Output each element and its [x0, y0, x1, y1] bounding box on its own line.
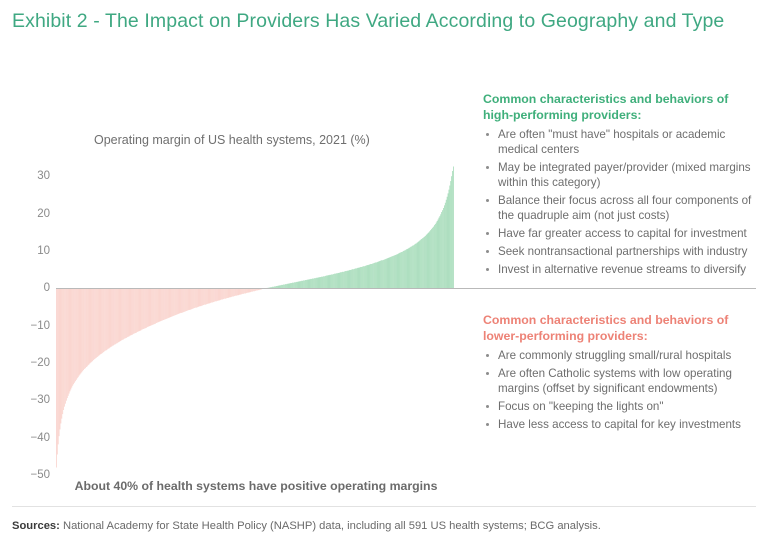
bullet-dot-icon	[486, 405, 489, 408]
bar	[414, 245, 415, 289]
bar	[179, 288, 180, 313]
bar	[220, 288, 221, 300]
bar	[411, 246, 412, 288]
bar	[96, 288, 97, 357]
bar	[425, 236, 426, 288]
bar	[117, 288, 118, 343]
bullet-dot-icon	[486, 232, 489, 235]
bar	[300, 281, 301, 288]
bar	[362, 267, 363, 289]
bar	[339, 273, 340, 288]
bar	[386, 259, 387, 289]
bar	[175, 288, 176, 315]
bar	[367, 265, 368, 288]
bar	[299, 282, 300, 289]
bar	[406, 249, 407, 288]
bar	[369, 265, 370, 289]
bar	[143, 288, 144, 329]
bullet-dot-icon	[486, 250, 489, 253]
footer-divider	[12, 506, 756, 507]
bar	[415, 244, 416, 288]
bar	[172, 288, 173, 316]
bar-series	[56, 165, 454, 475]
bar	[174, 288, 175, 315]
bullet-dot-icon	[486, 423, 489, 426]
bar	[429, 232, 430, 288]
bar	[357, 268, 358, 288]
bar	[214, 288, 215, 301]
bar	[215, 288, 216, 301]
bar	[359, 268, 360, 289]
bar	[151, 288, 152, 325]
bar	[427, 234, 428, 288]
bar	[233, 288, 234, 296]
bar	[148, 288, 149, 326]
bar	[188, 288, 189, 310]
bar	[443, 208, 444, 288]
bar	[379, 261, 380, 288]
bar	[342, 272, 343, 288]
bar	[399, 253, 400, 288]
bar	[209, 288, 210, 303]
bar	[331, 274, 332, 288]
bar	[194, 288, 195, 308]
list-item-label: Have less access to capital for key inve…	[498, 418, 741, 431]
bar	[440, 214, 441, 288]
bar	[232, 288, 233, 296]
bar	[118, 288, 119, 342]
bar	[366, 265, 367, 288]
y-axis-tick-label: −30	[4, 394, 50, 406]
bar	[160, 288, 161, 321]
bar	[340, 272, 341, 288]
bar	[135, 288, 136, 333]
bar	[238, 288, 239, 295]
bar	[328, 275, 329, 288]
zero-baseline	[56, 288, 756, 289]
bar	[165, 288, 166, 319]
bullet-dot-icon	[486, 268, 489, 271]
bar	[310, 279, 311, 288]
bar	[326, 276, 327, 289]
bar	[230, 288, 231, 297]
bar	[359, 267, 360, 288]
bar	[142, 288, 143, 329]
bar	[316, 278, 317, 288]
bar	[184, 288, 185, 312]
bar	[304, 280, 305, 288]
bar	[352, 269, 353, 288]
bar	[169, 288, 170, 318]
bar	[70, 288, 71, 391]
bar	[379, 261, 380, 288]
bar	[447, 197, 448, 289]
bar	[336, 273, 337, 288]
high-performers-heading: Common characteristics and behaviors of …	[483, 92, 761, 123]
bar	[67, 288, 68, 398]
bar	[81, 288, 82, 373]
bullet-dot-icon	[486, 354, 489, 357]
bar	[99, 288, 100, 355]
bar	[95, 288, 96, 358]
bar	[371, 264, 372, 288]
bar	[322, 277, 323, 289]
bar	[178, 288, 179, 314]
sources-label: Sources:	[12, 520, 60, 532]
bar	[350, 270, 351, 288]
bar	[320, 277, 321, 288]
bar	[313, 279, 314, 289]
bar	[71, 288, 72, 389]
bar	[61, 288, 62, 423]
bar	[180, 288, 181, 313]
bar	[378, 262, 379, 289]
bar	[160, 288, 161, 321]
bar	[61, 288, 62, 418]
bar	[147, 288, 148, 327]
bar	[413, 245, 414, 288]
bar	[151, 288, 152, 325]
bar	[73, 288, 74, 384]
bar	[398, 254, 399, 288]
bar	[185, 288, 186, 311]
bar	[348, 271, 349, 289]
bar	[361, 267, 362, 288]
bar	[320, 277, 321, 288]
bar	[208, 288, 209, 303]
bar	[65, 288, 66, 403]
bar	[419, 240, 420, 288]
list-item: Balance their focus across all four comp…	[483, 193, 761, 224]
bar	[323, 276, 324, 288]
list-item-label: Are often "must have" hospitals or acade…	[498, 128, 725, 156]
bar	[201, 288, 202, 306]
bar	[431, 229, 432, 288]
bar	[423, 237, 424, 288]
bar	[236, 288, 237, 295]
bar	[85, 288, 86, 368]
bar	[404, 251, 405, 289]
bar	[206, 288, 207, 304]
bar	[196, 288, 197, 307]
bar	[197, 288, 198, 307]
bar	[311, 279, 312, 288]
bar	[298, 282, 299, 289]
bar	[225, 288, 226, 298]
bar	[325, 276, 326, 288]
bar	[202, 288, 203, 305]
bar	[302, 281, 303, 288]
bar	[181, 288, 182, 313]
bar	[224, 288, 225, 298]
bar	[167, 288, 168, 318]
bar	[187, 288, 188, 310]
bar	[333, 274, 334, 288]
bar	[186, 288, 187, 311]
bar	[207, 288, 208, 304]
bar	[108, 288, 109, 349]
bar	[307, 280, 308, 289]
bar	[200, 288, 201, 306]
bar	[58, 288, 59, 444]
bar	[114, 288, 115, 344]
bar	[213, 288, 214, 302]
list-item: Invest in alternative revenue streams to…	[483, 262, 761, 277]
bar	[131, 288, 132, 335]
bar	[125, 288, 126, 338]
bar	[59, 288, 60, 436]
bar	[211, 288, 212, 302]
bar	[401, 252, 402, 288]
bar	[177, 288, 178, 314]
bar	[317, 278, 318, 288]
bar	[365, 266, 366, 288]
bar	[78, 288, 79, 377]
bar	[170, 288, 171, 317]
bar	[444, 205, 445, 288]
chart-caption: About 40% of health systems have positiv…	[56, 479, 456, 493]
bar	[341, 272, 342, 288]
bar	[346, 271, 347, 288]
bar	[140, 288, 141, 331]
bar	[385, 259, 386, 288]
bar	[87, 288, 88, 366]
bar	[123, 288, 124, 339]
bar	[69, 288, 70, 393]
bar	[374, 263, 375, 288]
plot-area	[56, 165, 454, 475]
bar	[387, 258, 388, 288]
bar	[64, 288, 65, 406]
bar	[112, 288, 113, 346]
bar	[134, 288, 135, 333]
bar	[144, 288, 145, 328]
bar	[350, 270, 351, 288]
bar	[146, 288, 147, 328]
bar	[76, 288, 77, 380]
y-axis-tick-label: 20	[4, 208, 50, 220]
bar	[400, 252, 401, 288]
bar	[57, 288, 58, 454]
bar	[237, 288, 238, 295]
sources-note: Sources: National Academy for State Heal…	[12, 519, 756, 534]
bar	[377, 262, 378, 288]
bar	[424, 237, 425, 289]
bar	[383, 260, 384, 288]
bar	[217, 288, 218, 301]
bar	[183, 288, 184, 312]
bar	[429, 231, 430, 288]
bar	[97, 288, 98, 357]
bar	[347, 271, 348, 289]
list-item: Have less access to capital for key inve…	[483, 417, 761, 432]
bar	[166, 288, 167, 319]
bar	[426, 235, 427, 288]
bar	[150, 288, 151, 326]
bar	[173, 288, 174, 316]
bar	[158, 288, 159, 322]
bar	[93, 288, 94, 360]
list-item: May be integrated payer/provider (mixed …	[483, 160, 761, 191]
bar	[133, 288, 134, 334]
bar	[180, 288, 181, 313]
list-item-label: Have far greater access to capital for i…	[498, 227, 747, 240]
bar	[189, 288, 190, 310]
bar	[417, 243, 418, 289]
bar	[159, 288, 160, 322]
bar	[105, 288, 106, 350]
bar	[344, 271, 345, 288]
bar	[330, 275, 331, 288]
bar	[418, 242, 419, 288]
bar	[393, 256, 394, 288]
bar	[74, 288, 75, 382]
bar	[106, 288, 107, 350]
bar	[369, 264, 370, 288]
bar	[356, 268, 357, 288]
bar	[389, 258, 390, 289]
bar	[396, 255, 397, 289]
bar	[199, 288, 200, 306]
bar	[86, 288, 87, 367]
bar	[155, 288, 156, 323]
bar	[91, 288, 92, 362]
bar	[239, 288, 240, 295]
bar	[435, 224, 436, 288]
bar	[305, 280, 306, 288]
bar	[441, 212, 442, 288]
bar	[399, 253, 400, 288]
bar	[364, 266, 365, 288]
bar	[141, 288, 142, 330]
bar	[212, 288, 213, 302]
bullet-dot-icon	[486, 199, 489, 202]
sources-text: National Academy for State Health Policy…	[63, 520, 601, 532]
bar	[98, 288, 99, 356]
bar	[439, 216, 440, 288]
bar	[130, 288, 131, 335]
bar	[312, 279, 313, 289]
bar	[210, 288, 211, 303]
bar	[191, 288, 192, 309]
list-item-label: Balance their focus across all four comp…	[498, 194, 751, 222]
bar	[388, 258, 389, 288]
bar	[228, 288, 229, 298]
bar	[234, 288, 235, 296]
bar	[176, 288, 177, 315]
bar	[193, 288, 194, 308]
bar	[390, 257, 391, 288]
bar	[216, 288, 217, 301]
bar	[128, 288, 129, 337]
bar	[68, 288, 69, 396]
y-axis: 3020100−10−20−30−40−50	[0, 0, 50, 500]
bar	[195, 288, 196, 307]
bar	[126, 288, 127, 338]
list-item-label: Are commonly struggling small/rural hosp…	[498, 349, 731, 362]
bar	[220, 288, 221, 300]
bar	[309, 279, 310, 288]
list-item: Are often Catholic systems with low oper…	[483, 366, 761, 397]
bar	[324, 276, 325, 288]
chart-subtitle: Operating margin of US health systems, 2…	[94, 133, 370, 147]
bar	[111, 288, 112, 347]
bar	[79, 288, 80, 375]
list-item-label: Are often Catholic systems with low oper…	[498, 367, 732, 395]
bar	[94, 288, 95, 359]
bar	[198, 288, 199, 307]
bar	[332, 274, 333, 288]
bar	[370, 264, 371, 288]
bar	[60, 288, 61, 429]
bar	[314, 278, 315, 288]
low-performers-panel: Common characteristics and behaviors of …	[483, 313, 761, 434]
bar	[230, 288, 231, 297]
bar	[384, 259, 385, 288]
bar	[394, 255, 395, 288]
bar	[442, 210, 443, 288]
bar	[329, 275, 330, 288]
bar	[355, 268, 356, 288]
bar	[129, 288, 130, 336]
bar	[84, 288, 85, 369]
bar	[115, 288, 116, 344]
bar	[190, 288, 191, 310]
bar	[318, 277, 319, 288]
y-axis-tick-label: −20	[4, 357, 50, 369]
bar	[63, 288, 64, 410]
bar	[335, 274, 336, 289]
bar	[72, 288, 73, 385]
bar	[110, 288, 111, 347]
bar	[182, 288, 183, 312]
bar	[407, 249, 408, 288]
bar	[327, 276, 328, 289]
bar	[139, 288, 140, 331]
bar	[351, 270, 352, 289]
y-axis-tick-label: 0	[4, 282, 50, 294]
bar	[75, 288, 76, 381]
bar	[116, 288, 117, 343]
y-axis-tick-label: 10	[4, 245, 50, 257]
bar	[395, 255, 396, 288]
bar	[310, 279, 311, 288]
bar	[192, 288, 193, 309]
bar	[103, 288, 104, 352]
bar	[231, 288, 232, 297]
bullet-dot-icon	[486, 372, 489, 375]
bar	[92, 288, 93, 361]
list-item-label: Focus on "keeping the lights on"	[498, 400, 664, 413]
bar	[131, 288, 132, 335]
bar	[358, 268, 359, 289]
bar	[162, 288, 163, 320]
bar	[436, 223, 437, 289]
bar	[315, 278, 316, 288]
bar	[235, 288, 236, 295]
bar	[120, 288, 121, 341]
bar	[154, 288, 155, 324]
bar	[82, 288, 83, 371]
bar	[449, 190, 450, 289]
bar	[300, 281, 301, 288]
bar	[450, 181, 451, 288]
bar	[451, 176, 452, 288]
bar	[221, 288, 222, 299]
bar	[80, 288, 81, 374]
bar	[381, 260, 382, 288]
bar	[77, 288, 78, 378]
